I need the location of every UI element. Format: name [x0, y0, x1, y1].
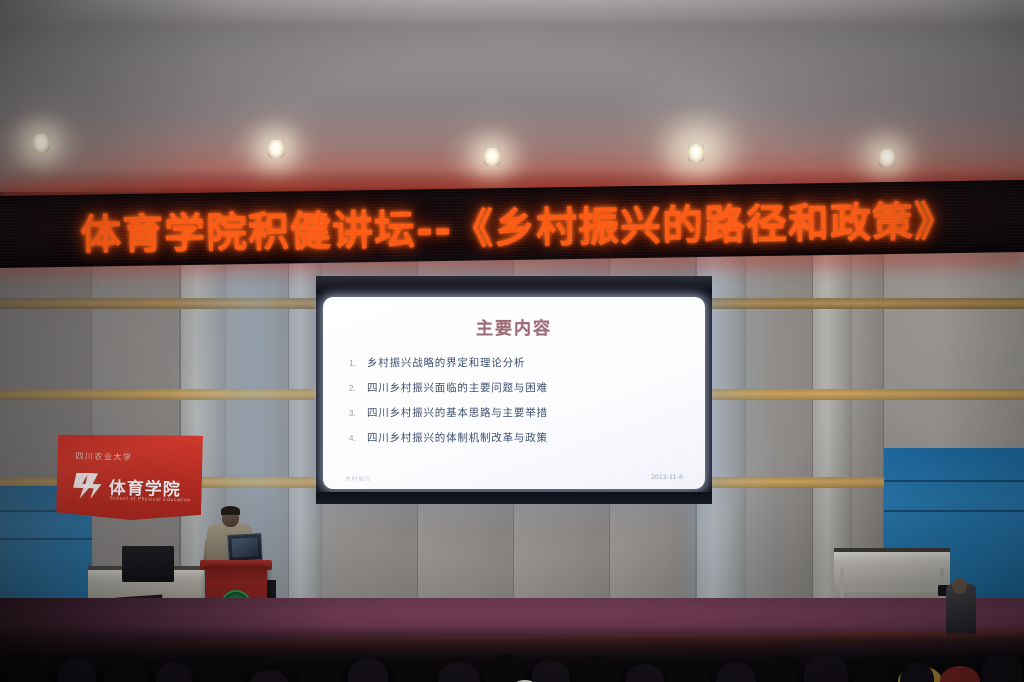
laptop-screen — [232, 537, 259, 557]
table-shelf — [838, 588, 946, 592]
audience-head — [982, 652, 1022, 682]
ceiling-spotlight-2 — [268, 140, 284, 158]
audience-head — [58, 658, 96, 682]
audience-head — [200, 666, 242, 682]
slide-title: 主要内容 — [323, 314, 705, 339]
presenter-hair — [221, 506, 240, 515]
slide-content-list: 1. 乡村振兴战略的界定和理论分析 2. 四川乡村振兴面临的主要问题与困难 3.… — [349, 355, 705, 445]
ceiling-spotlight-1 — [33, 134, 49, 152]
audience-head-red — [940, 666, 980, 682]
list-item-number: 1. — [349, 359, 367, 368]
audience-head — [250, 670, 288, 682]
university-red-banner: 四川农业大学 体育学院 School of Physical Education — [56, 432, 203, 522]
slide-footer: 乡村振兴 2013-11-6 — [323, 474, 705, 483]
lecture-hall-photo: 体育学院积健讲坛--《乡村振兴的路径和政策》 主要内容 1. 乡村振兴战略的界定… — [0, 0, 1024, 682]
slide-list-item: 2. 四川乡村振兴面临的主要问题与困难 — [349, 380, 705, 395]
ceiling — [0, 0, 1024, 192]
wainscot-line — [884, 510, 1024, 512]
slide-list-item: 4. 四川乡村振兴的体制机制改革与政策 — [349, 430, 705, 445]
wainscot-line — [0, 538, 92, 540]
ceiling-spotlight-4 — [688, 144, 704, 162]
audience-head — [298, 662, 342, 682]
slide-list-item: 1. 乡村振兴战略的界定和理论分析 — [349, 355, 705, 370]
presenter-laptop — [227, 533, 262, 562]
audience-head — [626, 664, 664, 682]
audience-head — [668, 658, 710, 682]
projection-screen: 主要内容 1. 乡村振兴战略的界定和理论分析 2. 四川乡村振兴面临的主要问题与… — [316, 276, 712, 504]
list-item-number: 4. — [349, 434, 367, 443]
list-item-text: 四川乡村振兴的基本思路与主要举措 — [367, 405, 548, 420]
audience-head — [8, 652, 50, 682]
presentation-slide: 主要内容 1. 乡村振兴战略的界定和理论分析 2. 四川乡村振兴面临的主要问题与… — [323, 297, 705, 489]
banner-university-name: 四川农业大学 — [75, 451, 132, 463]
wainscot-line — [884, 480, 1024, 482]
screen-bottom-bar — [316, 492, 712, 504]
audience-head — [804, 652, 848, 682]
audience-area — [0, 626, 1024, 682]
ceiling-spotlight-3 — [484, 148, 500, 166]
right-table — [834, 548, 950, 604]
audience-head — [576, 656, 620, 682]
audience-head — [348, 658, 388, 682]
slide-footer-left: 乡村振兴 — [345, 474, 371, 483]
list-item-text: 四川乡村振兴面临的主要问题与困难 — [367, 380, 548, 395]
banner-school-english: School of Physical Education — [109, 496, 190, 504]
ceiling-spotlight-5 — [879, 149, 895, 167]
audience-head — [156, 662, 192, 682]
school-logo-icon-2 — [82, 473, 109, 500]
audience-head — [438, 662, 480, 682]
videographer-head — [952, 578, 967, 594]
slide-footer-date: 2013-11-6 — [651, 474, 683, 483]
slide-list-item: 3. 四川乡村振兴的基本思路与主要举措 — [349, 405, 705, 420]
audience-head — [716, 662, 756, 682]
list-item-number: 2. — [349, 384, 367, 393]
stage-monitor — [122, 546, 174, 582]
list-item-text: 乡村振兴战略的界定和理论分析 — [367, 355, 525, 370]
screen-valance — [316, 276, 712, 294]
audience-head — [760, 656, 798, 682]
audience-head — [532, 660, 570, 682]
audience-head — [854, 658, 894, 682]
audience-head — [104, 656, 148, 682]
audience-head — [394, 666, 432, 682]
list-item-text: 四川乡村振兴的体制机制改革与政策 — [367, 430, 548, 445]
audience-head — [900, 662, 934, 682]
audience-head — [486, 654, 526, 682]
list-item-number: 3. — [349, 409, 367, 418]
led-banner-text: 体育学院积健讲坛--《乡村振兴的路径和政策》 — [68, 187, 957, 261]
